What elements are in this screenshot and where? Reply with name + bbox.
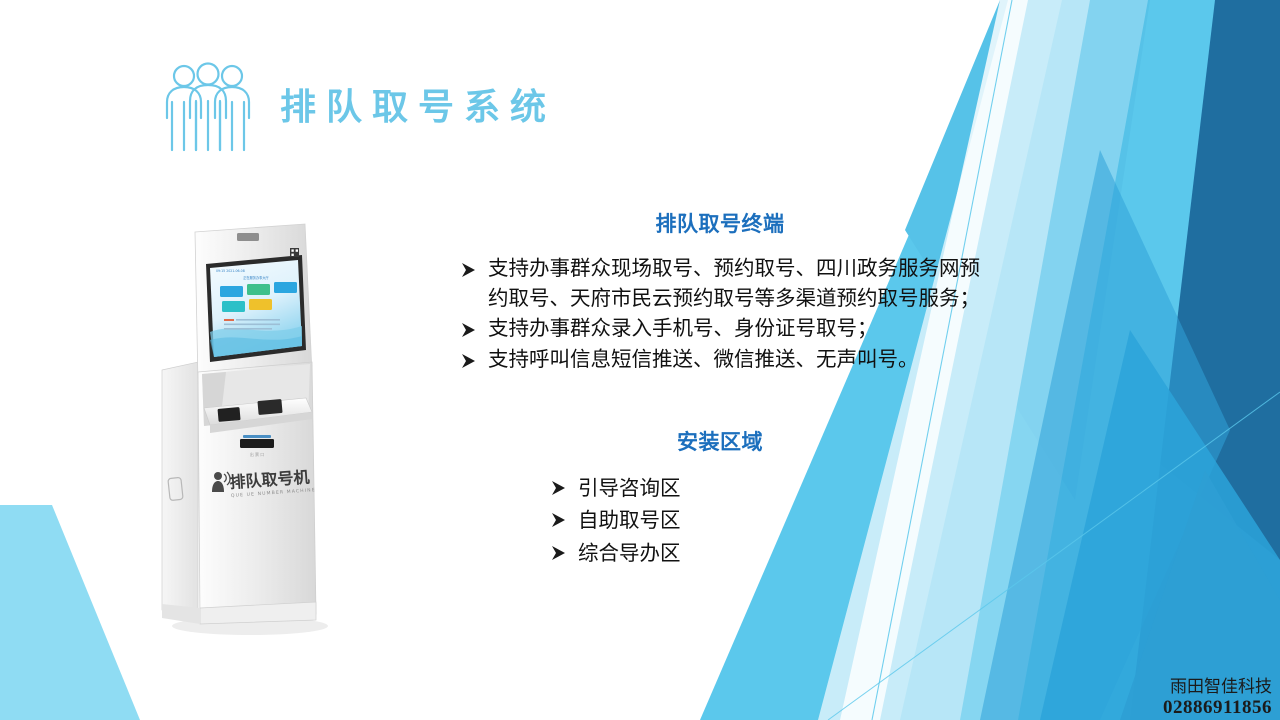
kiosk-product-image: 正在服务办事大厅 09:15 2021-06-08 (140, 222, 370, 642)
bullet-text: 支持办事群众录入手机号、身份证号取号； (488, 314, 980, 344)
list-item: 引导咨询区 (550, 472, 980, 504)
bullet-list-install: 引导咨询区 自助取号区 综合导办区 (550, 472, 980, 569)
content-column: 排队取号终端 支持办事群众现场取号、预约取号、四川政务服务网预约取号、天府市民云… (460, 208, 980, 569)
shape-mid-teal (1040, 330, 1280, 720)
slide: 排队取号系统 (0, 0, 1280, 720)
footer: 雨田智佳科技 02886911856 (1163, 678, 1272, 718)
arrow-bullet-icon (460, 317, 478, 343)
bullet-list-terminal: 支持办事群众现场取号、预约取号、四川政务服务网预约取号、天府市民云预约取号等多渠… (460, 254, 980, 374)
footer-company: 雨田智佳科技 (1163, 678, 1272, 697)
kiosk-ticket-slot-label: 出 票 口 (250, 451, 265, 457)
bullet-text: 自助取号区 (578, 504, 980, 536)
kiosk-screen-notice (224, 319, 234, 321)
footer-phone: 02886911856 (1163, 697, 1272, 718)
section-heading-terminal: 排队取号终端 (460, 208, 980, 238)
kiosk-ticket-slot-strip (243, 435, 271, 438)
kiosk-screen-button (274, 282, 297, 293)
arrow-bullet-icon (550, 540, 568, 566)
page-title: 排队取号系统 (280, 90, 556, 126)
list-item: 支持办事群众录入手机号、身份证号取号； (460, 314, 980, 344)
kiosk-screen-notice (236, 319, 280, 321)
kiosk-scanner-pad (218, 407, 241, 422)
slide-title-block: 排队取号系统 (160, 62, 556, 154)
shape-right-darker (1118, 0, 1280, 560)
list-item: 综合导办区 (550, 537, 980, 569)
section-install-area: 安装区域 引导咨询区 自助取号区 (460, 426, 980, 569)
list-item: 支持办事群众现场取号、预约取号、四川政务服务网预约取号、天府市民云预约取号等多渠… (460, 254, 980, 313)
arrow-bullet-icon (460, 257, 478, 283)
kiosk-screen-header: 正在服务办事大厅 (243, 275, 269, 280)
bullet-text: 引导咨询区 (578, 472, 980, 504)
shape-bottom-left-wedge (0, 505, 140, 720)
kiosk-camera (237, 233, 259, 241)
arrow-bullet-icon (550, 475, 568, 501)
kiosk-side-panel (162, 362, 198, 620)
shape-right-dark-band (1035, 0, 1280, 720)
kiosk-card-reader-pad (257, 399, 282, 415)
arrow-bullet-icon (460, 348, 478, 374)
section-heading-install: 安装区域 (460, 426, 980, 456)
list-item: 支持呼叫信息短信推送、微信推送、无声叫号。 (460, 345, 980, 375)
kiosk-screen-button (220, 286, 243, 297)
kiosk-screen-notice (224, 328, 272, 330)
kiosk-qr-code (290, 248, 299, 257)
kiosk-screen-clock: 09:15 2021-06-08 (216, 269, 245, 273)
kiosk-screen-button (222, 301, 245, 312)
three-people-icon (160, 62, 256, 154)
bullet-text: 综合导办区 (578, 537, 980, 569)
shape-pale-overlay-3 (980, 150, 1230, 720)
kiosk-ticket-slot (240, 439, 274, 448)
kiosk-screen-button (249, 299, 272, 310)
bullet-text: 支持呼叫信息短信推送、微信推送、无声叫号。 (488, 345, 980, 375)
kiosk-screen-button (247, 284, 270, 295)
bullet-text: 支持办事群众现场取号、预约取号、四川政务服务网预约取号、天府市民云预约取号等多渠… (488, 254, 980, 313)
list-item: 自助取号区 (550, 504, 980, 536)
section-terminal: 排队取号终端 支持办事群众现场取号、预约取号、四川政务服务网预约取号、天府市民云… (460, 208, 980, 374)
kiosk-screen-notice (224, 324, 280, 326)
arrow-bullet-icon (550, 507, 568, 533)
